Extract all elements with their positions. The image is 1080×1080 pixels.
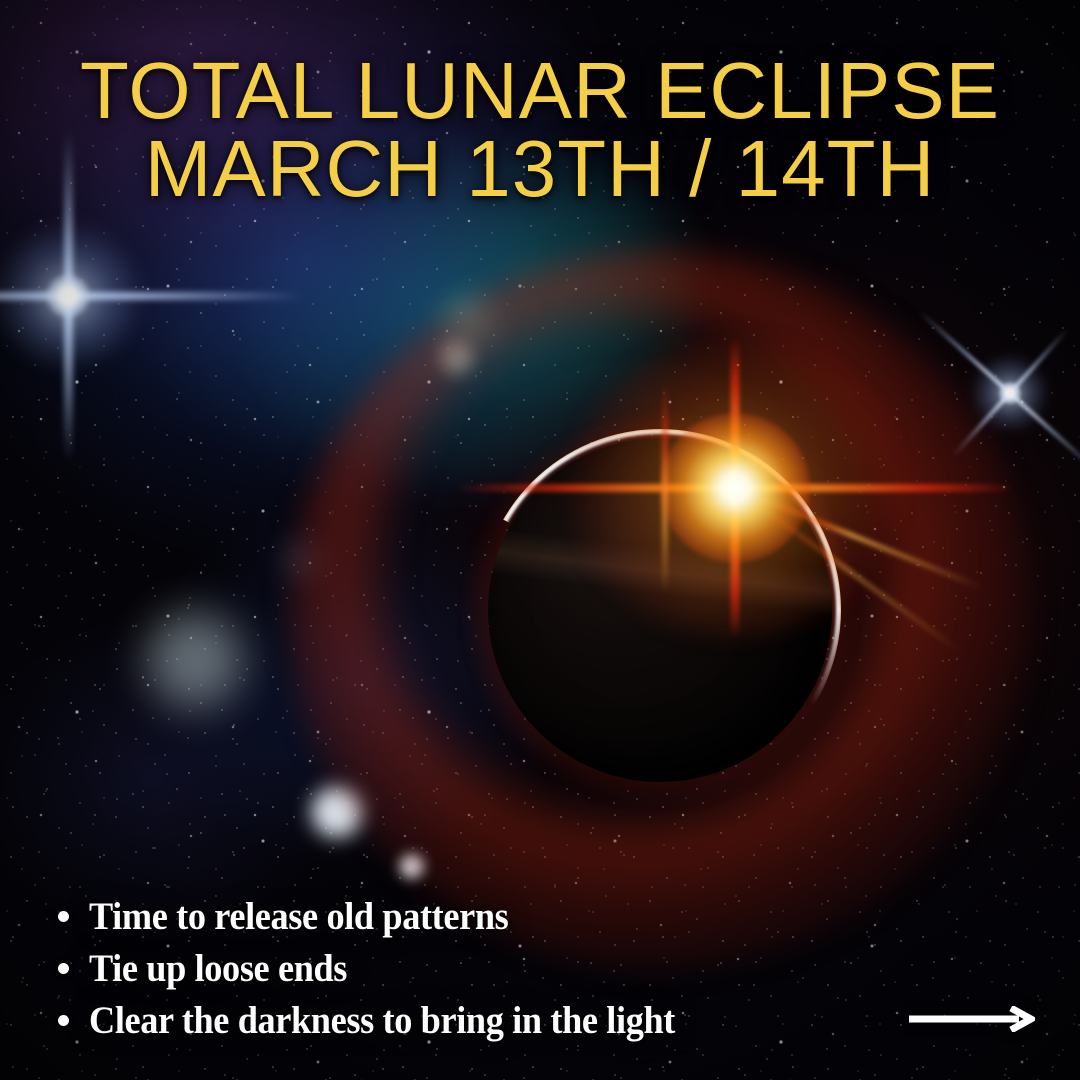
bokeh-orb-bright [306, 781, 368, 843]
arrow-right-icon[interactable] [907, 1006, 1035, 1032]
starburst-core [994, 377, 1026, 409]
starburst-spike [951, 328, 1069, 459]
flare-spike-diagonal-2 [717, 474, 963, 654]
list-item: Tie up loose ends [58, 946, 888, 992]
bokeh-orb-small [397, 851, 427, 881]
bullet-text: Time to release old patterns [89, 894, 508, 940]
starburst-spike [918, 310, 1080, 477]
flare-spike-diagonal [704, 474, 984, 591]
flare-spike-secondary [662, 383, 668, 593]
eclipse-light-band [488, 438, 832, 782]
starburst-core [46, 274, 90, 318]
list-item: Clear the darkness to bring in the light [58, 998, 888, 1044]
starburst-glow [0, 221, 143, 371]
eclipse-poster: TOTAL LUNAR ECLIPSE MARCH 13TH / 14TH Ti… [0, 0, 1080, 1080]
bullet-dot-icon [58, 1015, 69, 1026]
bokeh-orb-teal [440, 292, 496, 348]
headline-line-1: TOTAL LUNAR ECLIPSE [0, 52, 1080, 130]
bullet-text: Tie up loose ends [89, 946, 347, 992]
list-item: Time to release old patterns [58, 894, 888, 940]
flare-core [660, 413, 810, 563]
bullet-text: Clear the darkness to bring in the light [89, 998, 675, 1044]
headline-line-2: MARCH 13TH / 14TH [0, 130, 1080, 208]
bokeh-orb-large [136, 601, 254, 719]
bullet-dot-icon [58, 963, 69, 974]
flare-halo [570, 338, 900, 638]
bokeh-orb-faint [277, 537, 323, 583]
flare-spike-horizontal [455, 484, 1015, 492]
starburst-spike [0, 292, 303, 300]
eclipse-corona [464, 414, 856, 806]
eclipse-red-glow [290, 250, 1030, 970]
bokeh-orb-green [436, 337, 476, 377]
bullet-list: Time to release old patterns Tie up loos… [58, 894, 888, 1044]
page-title: TOTAL LUNAR ECLIPSE MARCH 13TH / 14TH [0, 52, 1080, 208]
eclipse-dark-disc [488, 438, 832, 782]
starburst-glow [955, 338, 1065, 448]
eclipse-rim-arc [479, 429, 841, 791]
flare-spike-vertical [731, 338, 740, 638]
bullet-dot-icon [58, 911, 69, 922]
